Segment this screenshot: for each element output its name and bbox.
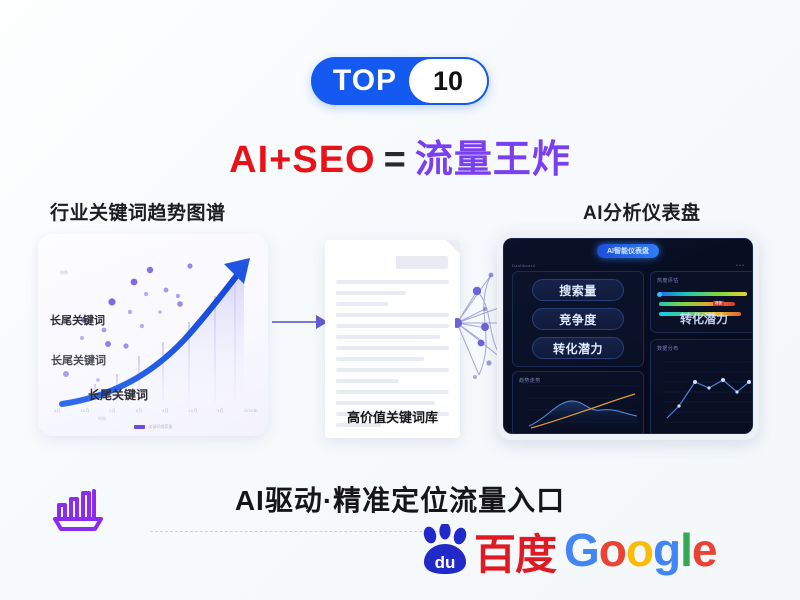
document-caption: 高价值关键词库 bbox=[325, 407, 460, 426]
title-equals: = bbox=[384, 139, 407, 181]
title-right: 流量王炸 bbox=[415, 139, 571, 181]
keyword-annotation-1: 长尾关键词 bbox=[50, 312, 105, 328]
ai-dashboard-screen: AI智能仪表盘 Dashboard • • • 搜索量 竞争度 转化潜力 趋势走… bbox=[503, 238, 753, 434]
top-badge-word: TOP bbox=[311, 64, 409, 98]
trend-panel-title: 数据分布 bbox=[657, 345, 679, 352]
metric-chip-competition[interactable]: 竞争度 bbox=[532, 308, 624, 330]
page-fold-corner bbox=[446, 240, 460, 254]
google-letter-g1: G bbox=[564, 524, 599, 576]
x-tick: 4月 bbox=[54, 408, 61, 414]
metric-chip-conversion[interactable]: 转化潜力 bbox=[532, 337, 624, 359]
keyword-annotation-3: 长尾关键词 bbox=[88, 386, 148, 403]
baidu-logo: du 百度 bbox=[418, 524, 556, 576]
gauge-bar-1-fill bbox=[659, 292, 747, 296]
gauge-bar-1-marker bbox=[657, 292, 662, 297]
trend-line-panel: 数据分布 bbox=[650, 339, 753, 434]
x-tick: 2025年 bbox=[244, 408, 258, 414]
gauge-panel-title: 热度评估 bbox=[657, 277, 679, 284]
x-tick: 10月 bbox=[188, 408, 197, 414]
infographic-canvas: TOP 10 AI+SEO=流量王炸 行业关键词趋势图谱 AI分析仪表盘 bbox=[0, 0, 800, 600]
google-letter-l: l bbox=[680, 524, 692, 576]
title-left: AI+SEO bbox=[229, 139, 375, 181]
trend-chart-svg bbox=[38, 234, 268, 436]
keyword-trend-chart-card: 指数 时间 长尾关键词 长尾关键词 长尾关键词 4月 10月 2月 8月 4月 … bbox=[38, 234, 268, 436]
ai-dashboard-device: AI智能仪表盘 Dashboard • • • 搜索量 竞争度 转化潜力 趋势走… bbox=[497, 232, 759, 440]
search-engine-logos: du 百度 Google bbox=[418, 524, 717, 576]
footer-title: AI驱动·精准定位流量入口 bbox=[0, 479, 800, 519]
legend-label: 关键词搜索量 bbox=[149, 424, 173, 430]
metric-chip-panel: 搜索量 竞争度 转化潜力 bbox=[512, 271, 644, 367]
gauge-overlay-label: 转化潜力 bbox=[651, 310, 753, 327]
google-letter-g2: g bbox=[653, 524, 680, 576]
trend-line-svg bbox=[651, 340, 753, 434]
gauge-bar-1 bbox=[659, 292, 747, 296]
area-chart-panel: 趋势走势 bbox=[512, 371, 644, 434]
google-letter-o1: o bbox=[599, 524, 626, 576]
area-chart-title: 趋势走势 bbox=[519, 377, 541, 384]
flow-arrow-icon bbox=[272, 312, 330, 332]
top-badge-number: 10 bbox=[409, 59, 487, 103]
doc-header-block bbox=[396, 256, 448, 269]
baidu-mark-text: du bbox=[435, 553, 456, 572]
legend-swatch bbox=[134, 425, 145, 429]
page-title: AI+SEO=流量王炸 bbox=[0, 128, 800, 183]
keyword-annotation-2: 长尾关键词 bbox=[51, 352, 106, 368]
chart-y-caption: 指数 bbox=[60, 270, 68, 276]
keyword-library-document: 高价值关键词库 bbox=[325, 240, 460, 438]
google-letter-o2: o bbox=[626, 524, 653, 576]
chart-legend: 关键词搜索量 bbox=[38, 424, 268, 430]
gauge-peak-tag: 峰值 bbox=[713, 301, 724, 306]
right-section-heading: AI分析仪表盘 bbox=[583, 198, 701, 225]
x-tick: 10月 bbox=[80, 408, 89, 414]
chart-x-axis: 4月 10月 2月 8月 4月 10月 4月 2025年 bbox=[54, 408, 258, 414]
x-tick: 4月 bbox=[162, 408, 169, 414]
heat-gauge-panel: 热度评估 峰值 转化潜力 bbox=[650, 271, 753, 333]
dashboard-topbar: AI智能仪表盘 bbox=[504, 239, 752, 261]
dashboard-subtitle: Dashboard bbox=[512, 263, 535, 268]
google-letter-e: e bbox=[692, 524, 717, 576]
top-rank-badge: TOP 10 bbox=[311, 57, 489, 105]
chart-x-caption: 时间 bbox=[98, 416, 106, 422]
baidu-paw-icon: du bbox=[418, 524, 472, 576]
x-tick: 2月 bbox=[109, 408, 116, 414]
x-tick: 8月 bbox=[136, 408, 143, 414]
dashboard-menu-icon[interactable]: • • • bbox=[736, 263, 744, 269]
baidu-logo-text: 百度 bbox=[474, 534, 556, 576]
footer-divider bbox=[150, 531, 442, 532]
metric-chip-search-volume[interactable]: 搜索量 bbox=[532, 279, 624, 301]
left-section-heading: 行业关键词趋势图谱 bbox=[50, 198, 226, 225]
google-logo: Google bbox=[564, 527, 716, 573]
dashboard-title-badge: AI智能仪表盘 bbox=[597, 244, 659, 258]
x-tick: 4月 bbox=[217, 408, 224, 414]
